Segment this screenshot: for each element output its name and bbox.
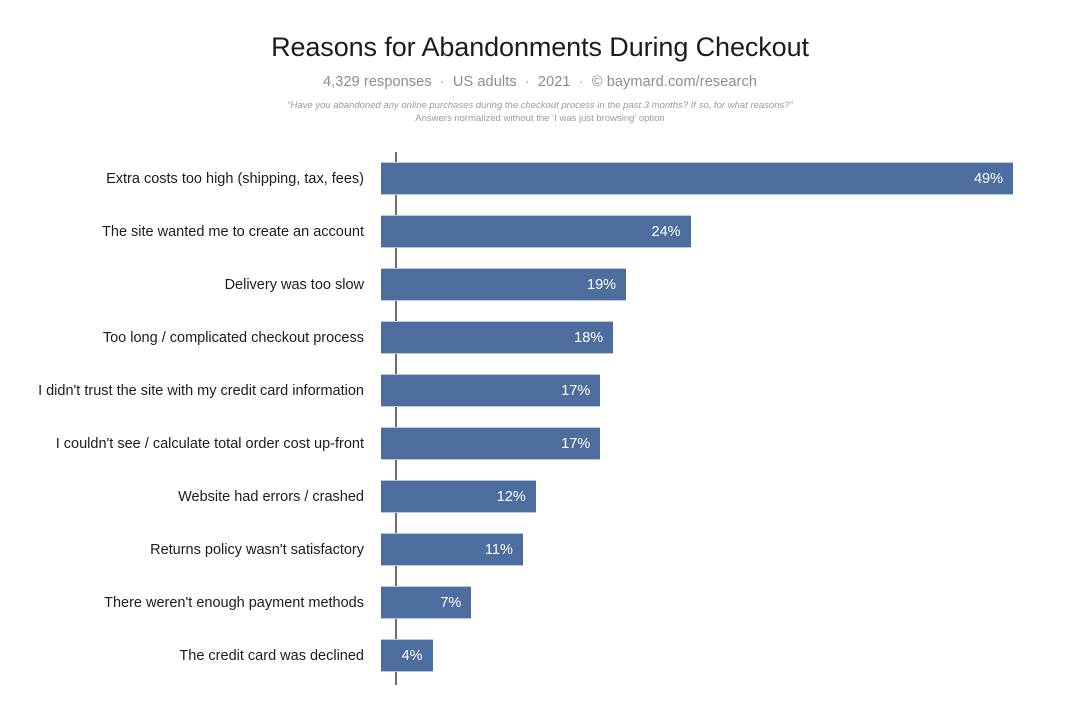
bar-category-label: Extra costs too high (shipping, tax, fee… bbox=[0, 170, 380, 188]
bar-track: 49% bbox=[380, 152, 1080, 205]
bar-value-label: 12% bbox=[497, 488, 536, 506]
byline-separator-2: · bbox=[521, 74, 534, 90]
bar: 19% bbox=[381, 268, 626, 301]
bar-row: There weren't enough payment methods7% bbox=[0, 576, 1080, 629]
bar-row: Returns policy wasn't satisfactory11% bbox=[0, 523, 1080, 576]
page-title: Reasons for Abandonments During Checkout bbox=[0, 30, 1080, 64]
bar-category-label: Delivery was too slow bbox=[0, 276, 380, 294]
bar-row: The credit card was declined4% bbox=[0, 629, 1080, 682]
bar-row: Too long / complicated checkout process1… bbox=[0, 311, 1080, 364]
chart-methodology-note: “Have you abandoned any online purchases… bbox=[0, 99, 1080, 125]
bar-track: 4% bbox=[380, 629, 1080, 682]
bar-track: 11% bbox=[380, 523, 1080, 576]
byline-separator-1: · bbox=[436, 74, 449, 90]
bar-category-label: I didn't trust the site with my credit c… bbox=[0, 382, 380, 400]
bar: 17% bbox=[381, 374, 600, 407]
bar-track: 7% bbox=[380, 576, 1080, 629]
byline-source: © baymard.com/research bbox=[592, 74, 757, 90]
bar-value-label: 7% bbox=[440, 594, 471, 612]
bar-track: 24% bbox=[380, 205, 1080, 258]
bar-value-label: 24% bbox=[652, 223, 691, 241]
bar-value-label: 49% bbox=[974, 170, 1013, 188]
bar-value-label: 11% bbox=[485, 541, 523, 559]
bar-row: I didn't trust the site with my credit c… bbox=[0, 364, 1080, 417]
bar: 49% bbox=[381, 162, 1013, 195]
bar: 18% bbox=[381, 321, 613, 354]
bar-track: 19% bbox=[380, 258, 1080, 311]
bar-category-label: Website had errors / crashed bbox=[0, 488, 380, 506]
byline-separator-3: · bbox=[575, 74, 588, 90]
bar-category-label: Too long / complicated checkout process bbox=[0, 329, 380, 347]
bar-category-label: The credit card was declined bbox=[0, 647, 380, 665]
byline-audience: US adults bbox=[453, 74, 517, 90]
bar-row: Website had errors / crashed12% bbox=[0, 470, 1080, 523]
bar-category-label: I couldn't see / calculate total order c… bbox=[0, 435, 380, 453]
bar: 4% bbox=[381, 639, 433, 672]
bar-track: 18% bbox=[380, 311, 1080, 364]
bar-row: The site wanted me to create an account2… bbox=[0, 205, 1080, 258]
bar-row: Delivery was too slow19% bbox=[0, 258, 1080, 311]
bar-rows: Extra costs too high (shipping, tax, fee… bbox=[0, 152, 1080, 682]
bar-track: 17% bbox=[380, 417, 1080, 470]
bar-row: I couldn't see / calculate total order c… bbox=[0, 417, 1080, 470]
bar: 7% bbox=[381, 586, 471, 619]
bar-value-label: 18% bbox=[574, 329, 613, 347]
bar-category-label: There weren't enough payment methods bbox=[0, 594, 380, 612]
bar-category-label: The site wanted me to create an account bbox=[0, 223, 380, 241]
byline-responses: 4,329 responses bbox=[323, 74, 432, 90]
byline-year: 2021 bbox=[538, 74, 571, 90]
chart-container: Reasons for Abandonments During Checkout… bbox=[0, 0, 1080, 710]
chart-byline: 4,329 responses · US adults · 2021 · © b… bbox=[0, 73, 1080, 91]
bar-category-label: Returns policy wasn't satisfactory bbox=[0, 541, 380, 559]
bar-row: Extra costs too high (shipping, tax, fee… bbox=[0, 152, 1080, 205]
bar-track: 12% bbox=[380, 470, 1080, 523]
bar: 11% bbox=[381, 533, 523, 566]
bar-value-label: 4% bbox=[402, 647, 433, 665]
bar-track: 17% bbox=[380, 364, 1080, 417]
bar: 17% bbox=[381, 427, 600, 460]
bar-value-label: 17% bbox=[561, 382, 600, 400]
bar: 24% bbox=[381, 215, 691, 248]
bar-value-label: 19% bbox=[587, 276, 626, 294]
chart-header: Reasons for Abandonments During Checkout… bbox=[0, 0, 1080, 125]
note-normalization: Answers normalized without the ‘I was ju… bbox=[0, 112, 1080, 125]
plot-area: Extra costs too high (shipping, tax, fee… bbox=[0, 152, 1080, 687]
bar: 12% bbox=[381, 480, 536, 513]
bar-value-label: 17% bbox=[561, 435, 600, 453]
note-question: “Have you abandoned any online purchases… bbox=[0, 99, 1080, 112]
